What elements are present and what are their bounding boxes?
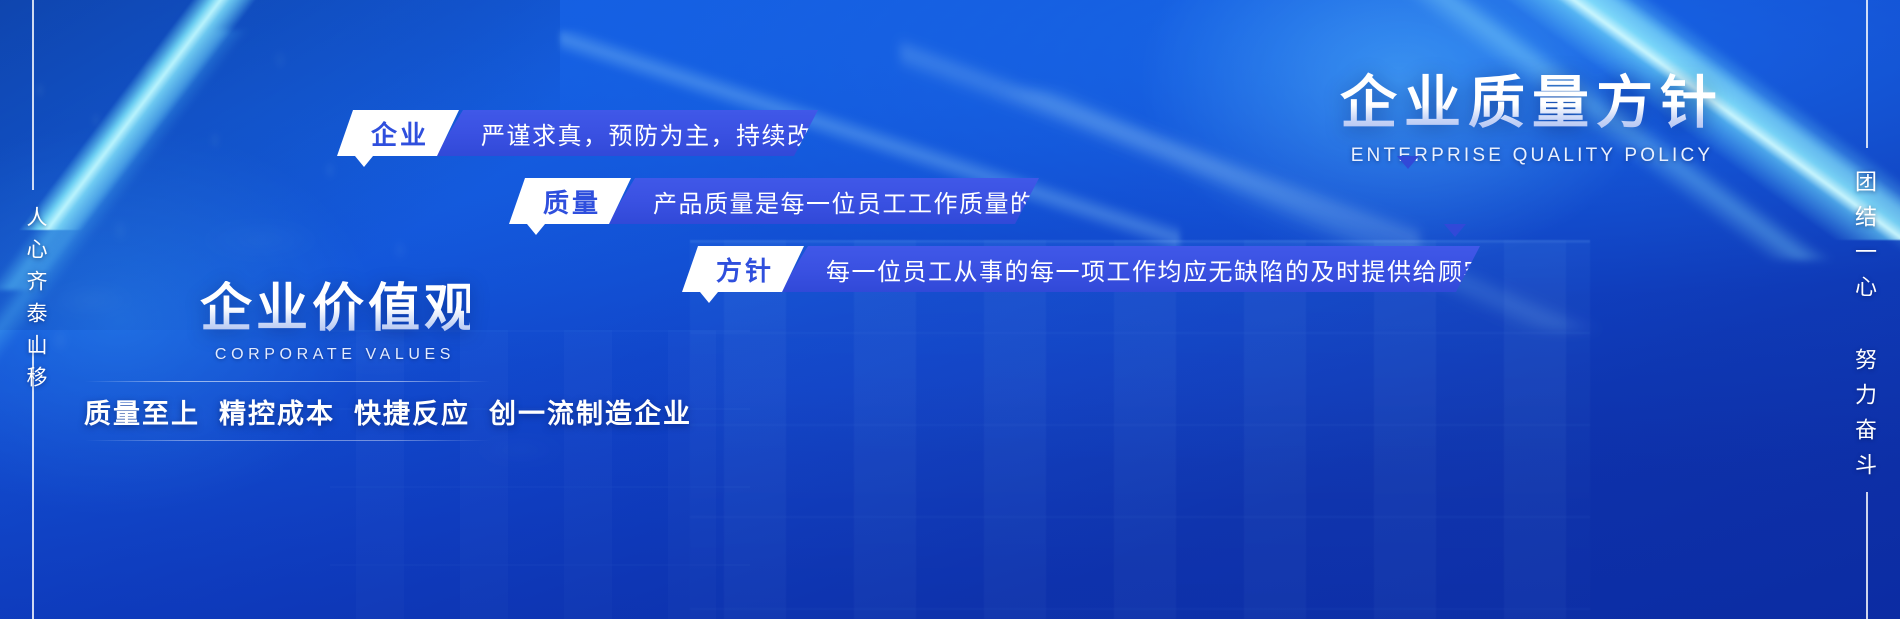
corporate-values-title-en: CORPORATE VALUES [200, 346, 470, 364]
right-rail-bottom [1866, 492, 1868, 619]
slogan-divider-top [85, 381, 490, 382]
right-vertical-slogan: 团结一心 努力奋斗 [1848, 170, 1880, 488]
policy-tag-notch-icon [700, 292, 718, 303]
policy-row-text: 每一位员工从事的每一项工作均应无缺陷的及时提供给顾客 [780, 246, 1480, 292]
policy-row: 企业 严谨求真，预防为主，持续改进 [337, 110, 818, 156]
policy-bar-notch-icon [1444, 224, 1466, 237]
policy-row-text: 产品质量是每一位员工工作质量的合成 [607, 178, 1039, 224]
left-vertical-slogan: 人心齐泰山移 [21, 206, 51, 398]
corporate-values-heading: 企业价值观 CORPORATE VALUES [200, 281, 470, 364]
light-streak-top-left-1 [0, 0, 380, 230]
slogan-divider-bottom [85, 440, 490, 441]
policy-row: 方针 每一位员工从事的每一项工作均应无缺陷的及时提供给顾客 [682, 246, 1480, 292]
policy-tag-notch-icon [527, 224, 545, 235]
enterprise-quality-policy-heading: 企业质量方针 ENTERPRISE QUALITY POLICY [1340, 72, 1724, 167]
background-building-left-ghost [330, 330, 750, 619]
background-building-ghost [690, 240, 1590, 619]
right-rail-top [1866, 0, 1868, 148]
corporate-values-slogan: 质量至上 精控成本 快捷反应 创一流制造企业 [84, 392, 692, 431]
light-streak-top-left-2 [0, 0, 370, 290]
policy-row-text: 严谨求真，预防为主，持续改进 [435, 110, 818, 156]
corporate-values-title-cn: 企业价值观 [200, 281, 470, 337]
policy-bar-notch-icon [1397, 156, 1419, 169]
enterprise-quality-policy-title-cn: 企业质量方针 [1340, 72, 1724, 135]
left-rail-top [32, 0, 34, 190]
policy-tag-notch-icon [355, 156, 373, 167]
quality-policy-banner: 人心齐泰山移 团结一心 努力奋斗 企业质量方针 ENTERPRISE QUALI… [0, 0, 1900, 619]
policy-row: 质量 产品质量是每一位员工工作质量的合成 [509, 178, 1039, 224]
